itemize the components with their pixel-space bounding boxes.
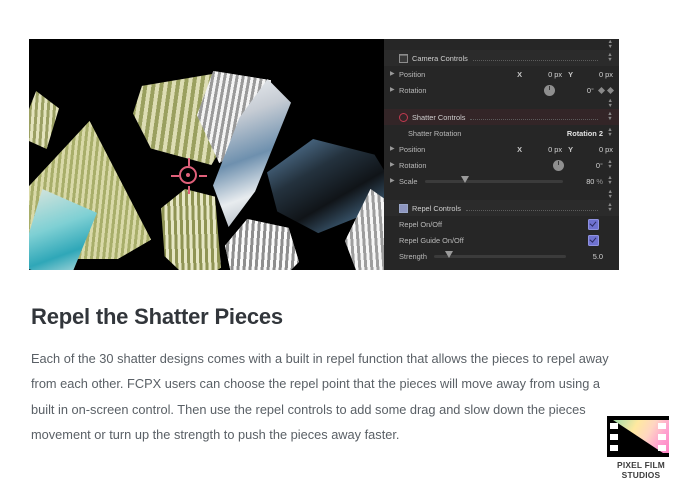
repel-point-onscreen-control[interactable]	[171, 158, 207, 194]
value-position-y[interactable]: 0 px	[573, 145, 613, 154]
scale-slider[interactable]	[425, 180, 564, 183]
inspector-spacer: ▲▼	[384, 98, 619, 109]
value-shatter-rotation[interactable]: Rotation 2	[567, 129, 603, 138]
film-strip-icon	[607, 416, 669, 457]
page-title: Repel the Shatter Pieces	[31, 304, 283, 330]
rotation-dial[interactable]	[553, 160, 564, 171]
shatter-circle-icon	[399, 113, 408, 122]
inspector-top-spacer: ▲▼	[384, 39, 619, 50]
param-label-shatter-rotation: Shatter Rotation	[408, 129, 461, 138]
param-label-position: Position	[399, 70, 425, 79]
value-position-x[interactable]: 0 px	[522, 70, 562, 79]
logo-wordmark: PIXEL FILM STUDIOS	[598, 460, 684, 480]
osc-arm-top	[188, 158, 191, 166]
unit-percent: %	[596, 177, 603, 186]
body-paragraph: Each of the 30 shatter designs comes wit…	[31, 346, 621, 448]
disclosure-triangle-icon[interactable]	[390, 87, 399, 93]
unit-degrees: °	[591, 86, 594, 95]
slider-knob[interactable]	[461, 176, 469, 183]
group-label-repel-controls: Repel Controls	[412, 204, 461, 213]
film-sprockets-left	[610, 421, 618, 453]
stepper-icon[interactable]: ▲▼	[607, 112, 613, 122]
disclosure-triangle-icon[interactable]	[390, 162, 399, 168]
inspector-panel[interactable]: ▲▼ Camera Controls ▲▼ Position X 0 px Y …	[384, 39, 619, 270]
stepper-icon[interactable]: ▲▼	[608, 190, 613, 200]
dotted-leader	[470, 118, 598, 120]
param-label-repel-guide-onoff: Repel Guide On/Off	[399, 236, 464, 245]
pixel-film-studios-logo: PIXEL FILM STUDIOS	[598, 416, 684, 474]
slider-knob[interactable]	[445, 251, 453, 258]
rotation-dial[interactable]	[544, 85, 555, 96]
param-row-repel-guide-onoff[interactable]: Repel Guide On/Off	[384, 232, 619, 248]
param-label-repel-onoff: Repel On/Off	[399, 220, 442, 229]
disclosure-triangle-icon[interactable]	[390, 178, 399, 184]
unit-degrees: °	[600, 161, 603, 170]
group-header-repel-controls[interactable]: Repel Controls ▲▼	[384, 200, 619, 216]
stepper-icon[interactable]: ▲▼	[607, 53, 613, 63]
repel-icon	[399, 204, 408, 213]
film-strip-top-bar	[607, 416, 669, 420]
param-row-shatter-position[interactable]: Position X 0 px Y 0 px	[384, 141, 619, 157]
param-row-strength[interactable]: Strength 5.0	[384, 248, 619, 264]
value-strength[interactable]: 5.0	[573, 252, 603, 261]
stepper-icon[interactable]: ▲▼	[607, 203, 613, 213]
param-row-repel-onoff[interactable]: Repel On/Off	[384, 216, 619, 232]
group-header-shatter-controls[interactable]: Shatter Controls ▲▼	[384, 109, 619, 125]
group-label-camera-controls: Camera Controls	[412, 54, 468, 63]
stepper-icon[interactable]: ▲▼	[608, 40, 613, 50]
film-sprockets-right	[658, 421, 666, 453]
shatter-shard	[225, 219, 299, 270]
shatter-shard	[29, 91, 59, 149]
param-label-strength: Strength	[399, 252, 427, 261]
popup-chevron-icon[interactable]: ▲▼	[607, 128, 613, 138]
stepper-icon[interactable]: ▲▼	[607, 176, 613, 186]
value-camera-rotation[interactable]: 0	[555, 86, 591, 95]
param-row-camera-position[interactable]: Position X 0 px Y 0 px	[384, 66, 619, 82]
fcpx-viewer-canvas[interactable]	[29, 39, 384, 270]
group-header-camera-controls[interactable]: Camera Controls ▲▼	[384, 50, 619, 66]
osc-arm-bottom	[188, 186, 191, 194]
value-position-y[interactable]: 0 px	[573, 70, 613, 79]
param-label-rotation: Rotation	[399, 86, 427, 95]
group-label-shatter-controls: Shatter Controls	[412, 113, 465, 122]
disclosure-triangle-icon[interactable]	[390, 71, 399, 77]
value-position-x[interactable]: 0 px	[522, 145, 562, 154]
osc-arm-right	[199, 175, 207, 178]
param-row-scale[interactable]: Scale 80 % ▲▼	[384, 173, 619, 189]
checkbox-repel-onoff[interactable]	[588, 219, 599, 230]
param-row-shatter-rotation-preset[interactable]: Shatter Rotation Rotation 2 ▲▼	[384, 125, 619, 141]
stepper-icon[interactable]: ▲▼	[608, 99, 613, 109]
osc-center-dot	[186, 173, 190, 177]
param-label-position: Position	[399, 145, 425, 154]
param-label-rotation: Rotation	[399, 161, 427, 170]
checkbox-repel-guide-onoff[interactable]	[588, 235, 599, 246]
strength-slider[interactable]	[434, 255, 566, 258]
param-row-camera-rotation[interactable]: Rotation 0 °	[384, 82, 619, 98]
inspector-spacer: ▲▼	[384, 189, 619, 200]
value-shatter-rotation-deg[interactable]: 0	[564, 161, 600, 170]
screenshot-media-block: ▲▼ Camera Controls ▲▼ Position X 0 px Y …	[29, 39, 619, 270]
param-row-shatter-rotation-dial[interactable]: Rotation 0 ° ▲▼	[384, 157, 619, 173]
dotted-leader	[466, 209, 598, 211]
camera-icon	[399, 54, 408, 63]
disclosure-triangle-icon[interactable]	[390, 146, 399, 152]
stepper-icon[interactable]: ▲▼	[607, 160, 613, 170]
keyframe-arrows-icon[interactable]	[599, 88, 613, 93]
osc-arm-left	[171, 175, 179, 178]
param-label-scale: Scale	[399, 177, 418, 186]
shatter-shard	[161, 189, 221, 270]
value-scale[interactable]: 80	[570, 177, 594, 186]
dotted-leader	[473, 59, 598, 61]
